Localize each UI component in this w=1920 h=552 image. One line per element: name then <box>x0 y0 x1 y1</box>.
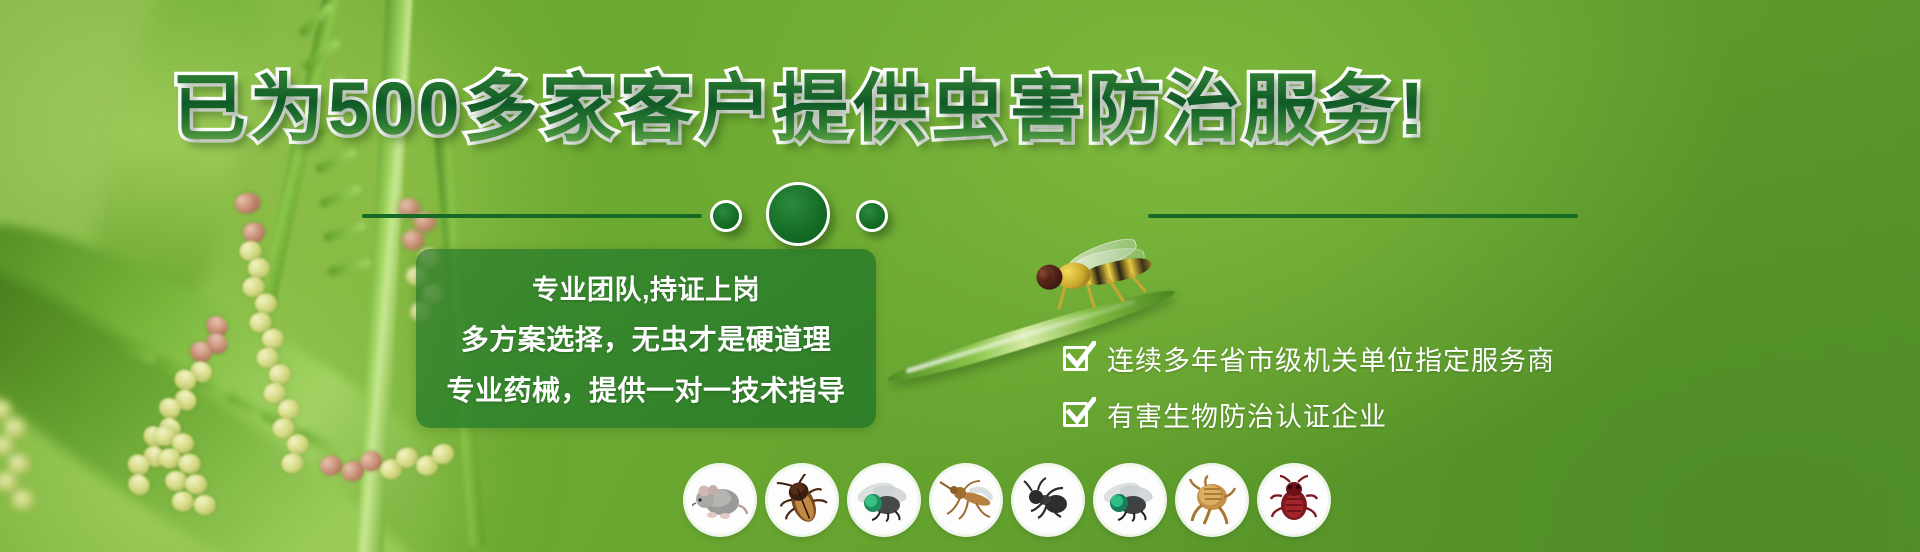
hoverfly-leg <box>1086 283 1096 309</box>
hoverfly-leg <box>1058 285 1067 309</box>
plant-catkin <box>145 425 294 552</box>
checklist-item-label: 有害生物防治认证企业 <box>1107 395 1387 434</box>
pest-icon-flea[interactable] <box>1178 466 1246 534</box>
checklist-item: 有害生物防治认证企业 <box>1063 386 1555 442</box>
pest-icon-mosquito[interactable] <box>932 466 1000 534</box>
selling-point-line-1: 专业团队,持证上岗 <box>532 268 760 307</box>
pest-icon-ant[interactable] <box>1014 466 1082 534</box>
pest-icon-housefly[interactable] <box>850 466 918 534</box>
hoverfly-leg <box>1129 273 1147 293</box>
selling-point-line-3: 专业药械，提供一对一技术指导 <box>446 369 845 409</box>
selling-points-text: 专业团队,持证上岗 多方案选择，无虫才是硬道理 专业药械，提供一对一技术指导 <box>416 249 876 428</box>
selling-point-line-2: 多方案选择，无虫才是硬道理 <box>461 318 832 358</box>
plant-catkin <box>0 400 110 552</box>
pest-icon-blowfly[interactable] <box>1096 466 1164 534</box>
page-title-outline: 已为500多家客户提供虫害防治服务! <box>0 72 1600 146</box>
checklist-item-label: 连续多年省市级机关单位指定服务商 <box>1107 339 1555 378</box>
checkbox-checked-icon <box>1063 399 1093 429</box>
checkbox-checked-icon <box>1063 343 1093 373</box>
pest-icon-bedbug[interactable] <box>1260 466 1328 534</box>
divider-dot-large <box>766 182 830 246</box>
pest-icon-cockroach[interactable] <box>768 466 836 534</box>
divider-dot-small-left <box>710 200 742 232</box>
pest-icon-mouse[interactable] <box>686 466 754 534</box>
checklist-item: 连续多年省市级机关单位指定服务商 <box>1063 330 1555 386</box>
divider-right <box>1148 214 1578 218</box>
pest-icon-row <box>686 466 1328 534</box>
pest-control-hero-banner: 已为500多家客户提供虫害防治服务! 已为500多家客户提供虫害防治服务! 专业… <box>0 0 1920 552</box>
divider-left <box>362 214 702 218</box>
certification-checklist: 连续多年省市级机关单位指定服务商 有害生物防治认证企业 <box>1063 330 1555 442</box>
divider-dot-small-right <box>856 200 888 232</box>
